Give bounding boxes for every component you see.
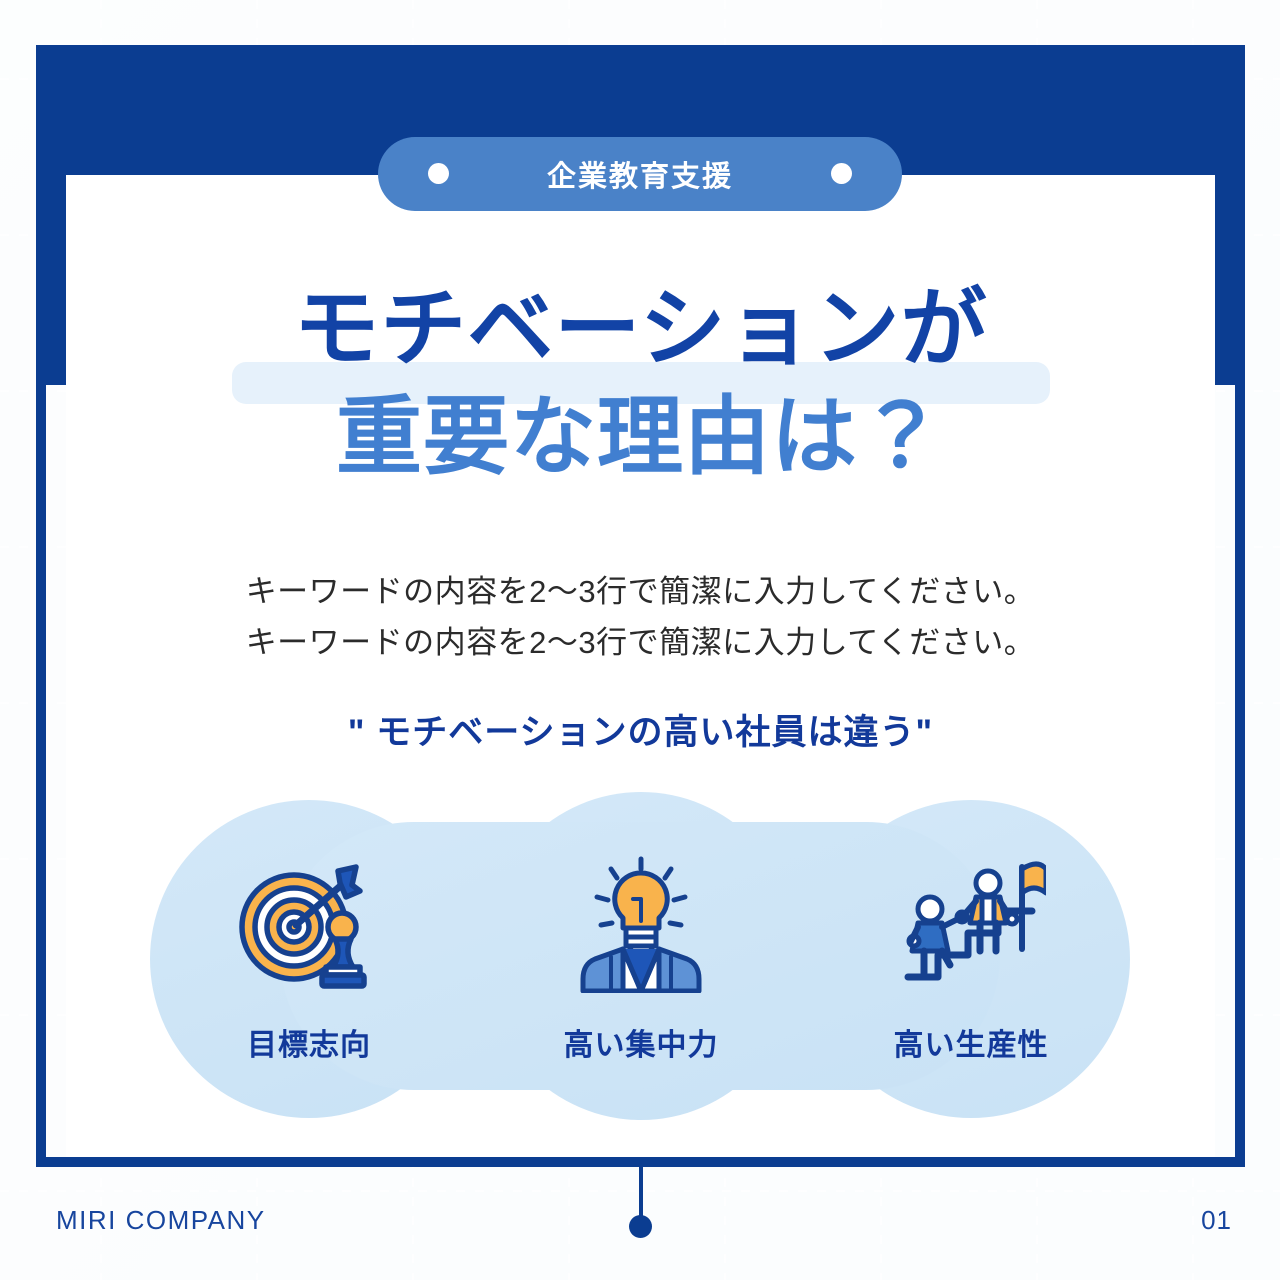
feature-label: 高い生産性 <box>894 1020 1049 1064</box>
feature-item-goal[interactable]: 目標志向 <box>150 792 468 1120</box>
badge-dot-right-icon <box>831 163 852 184</box>
title-line-1-text: モチベーションが <box>293 281 987 377</box>
frame-border-right <box>1235 45 1245 1167</box>
feature-label: 高い集中力 <box>564 1020 719 1064</box>
category-badge[interactable]: 企業教育支援 <box>378 137 902 211</box>
pendant-dot <box>629 1215 652 1238</box>
body-line-2: キーワードの内容を2〜3行で簡潔に入力してください。 <box>66 617 1215 668</box>
feature-group: 目標志向 <box>150 792 1130 1120</box>
title-line-2: 重要な理由は？ <box>66 394 1215 480</box>
target-arrow-pawn-icon <box>234 848 384 998</box>
slide-canvas: 企業教育支援 モチベーションが 重要な理由は？ キーワードの内容を2〜3行で簡潔… <box>0 0 1280 1280</box>
feature-item-productivity[interactable]: 高い生産性 <box>812 792 1130 1120</box>
pendant-line <box>639 1165 643 1221</box>
people-stairs-flag-icon <box>896 848 1046 998</box>
footer-company-name: MIRI COMPANY <box>56 1205 266 1236</box>
frame-border-left <box>36 45 46 1167</box>
lightbulb-head-suit-icon <box>571 848 711 998</box>
quote-text: " モチベーションの高い社員は違う" <box>66 704 1215 755</box>
badge-dot-left-icon <box>428 163 449 184</box>
badge-label: 企業教育支援 <box>547 153 733 195</box>
feature-item-focus[interactable]: 高い集中力 <box>482 792 800 1120</box>
body-paragraph: キーワードの内容を2〜3行で簡潔に入力してください。 キーワードの内容を2〜3行… <box>66 566 1215 668</box>
feature-label: 目標志向 <box>247 1020 371 1064</box>
body-line-1: キーワードの内容を2〜3行で簡潔に入力してください。 <box>66 566 1215 617</box>
title-line-1: モチベーションが <box>66 286 1215 372</box>
page-title: モチベーションが 重要な理由は？ <box>66 286 1215 480</box>
footer-page-number: 01 <box>1201 1205 1232 1236</box>
